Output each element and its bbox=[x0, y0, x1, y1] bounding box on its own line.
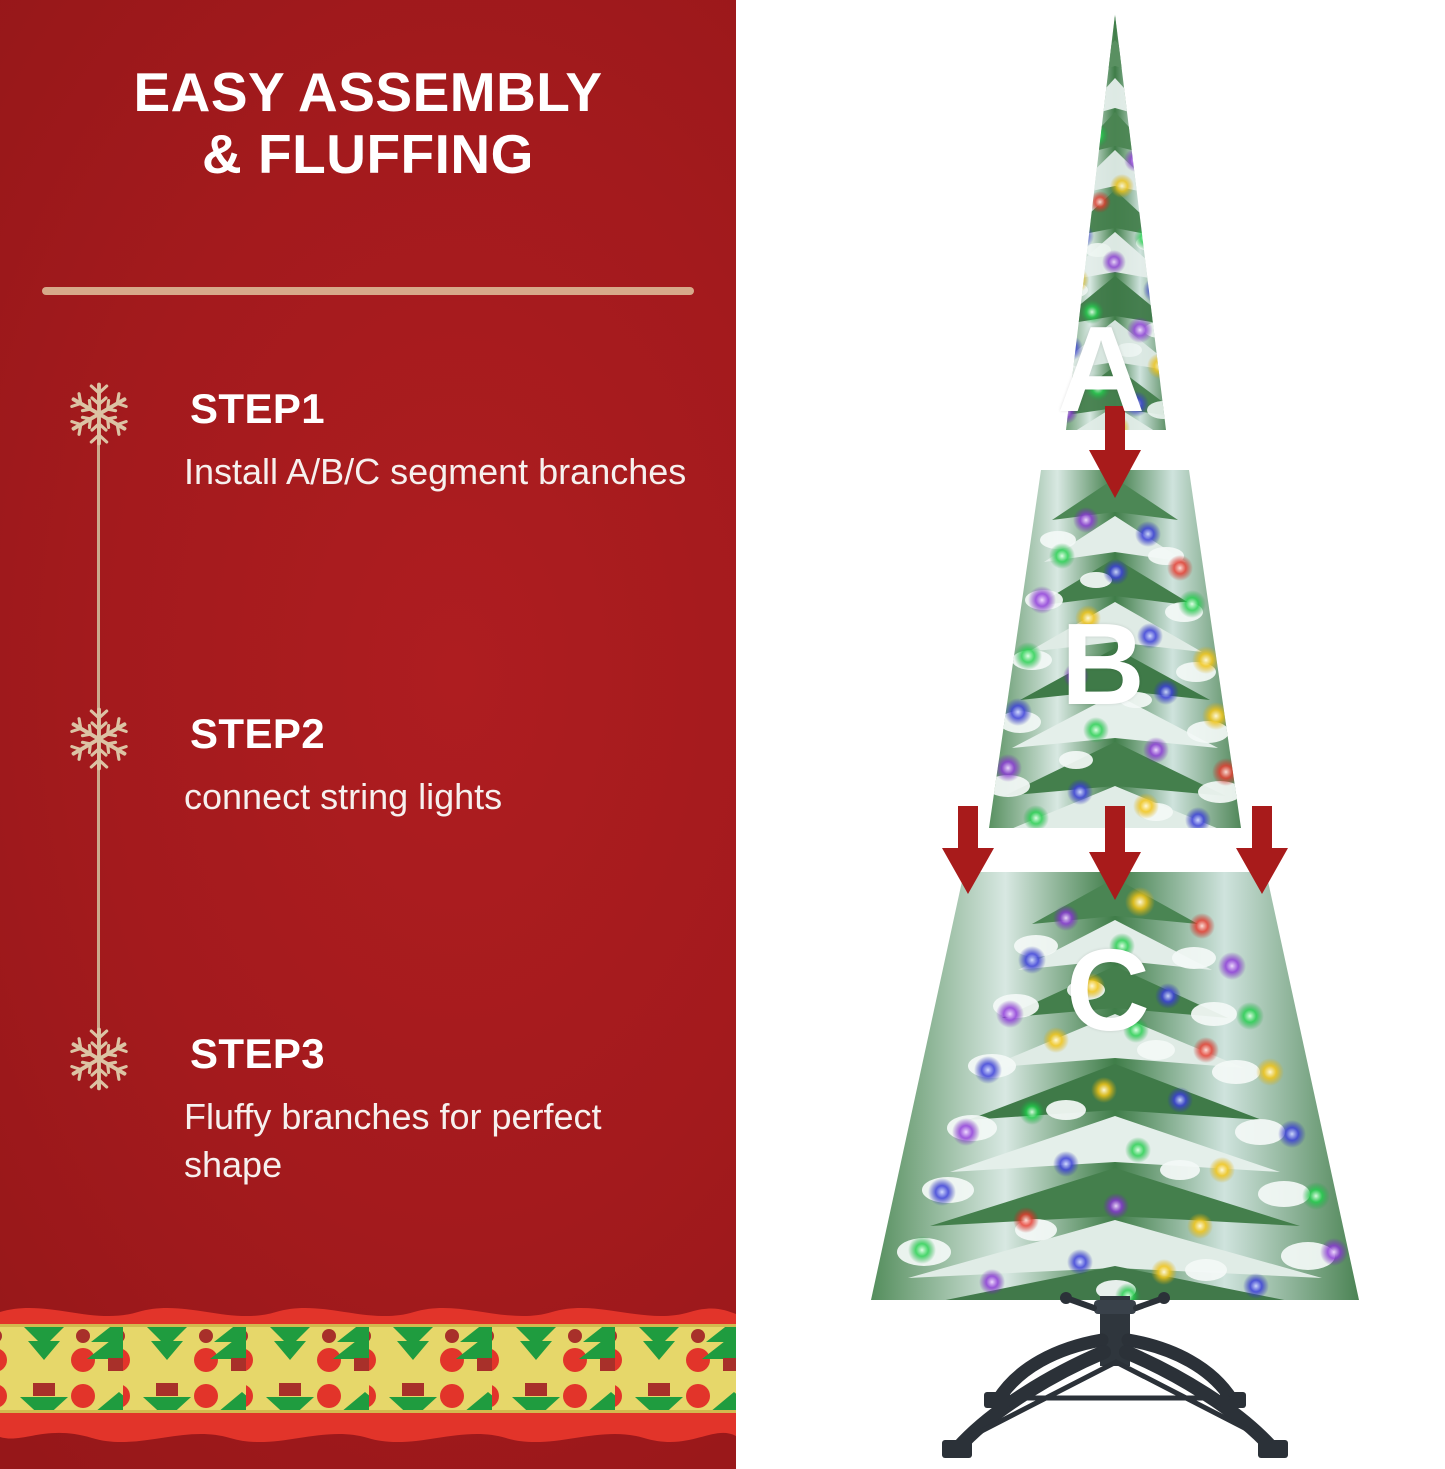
segment-label-c: C bbox=[1066, 932, 1150, 1048]
page-title: EASY ASSEMBLY & FLUFFING bbox=[0, 62, 736, 185]
christmas-tree-illustration bbox=[736, 0, 1445, 1469]
step-title: STEP2 bbox=[190, 710, 325, 758]
title-divider bbox=[42, 287, 694, 295]
step-description: Fluffy branches for perfect shape bbox=[184, 1093, 704, 1188]
headline-line-2: & FLUFFING bbox=[0, 124, 736, 186]
infographic-canvas: EASY ASSEMBLY & FLUFFING bbox=[0, 0, 1445, 1469]
christmas-border-decoration bbox=[0, 1294, 736, 1469]
step-title: STEP1 bbox=[190, 385, 325, 433]
product-image-panel: A B C bbox=[736, 0, 1445, 1469]
snowflake-icon bbox=[64, 704, 134, 774]
left-info-panel: EASY ASSEMBLY & FLUFFING bbox=[0, 0, 736, 1469]
snowflake-icon bbox=[64, 1024, 134, 1094]
snowflake-icon bbox=[64, 379, 134, 449]
segment-label-a: A bbox=[1057, 308, 1145, 430]
segment-label-b: B bbox=[1061, 606, 1145, 722]
step-description: Install A/B/C segment branches bbox=[184, 448, 704, 496]
headline-line-1: EASY ASSEMBLY bbox=[0, 62, 736, 124]
step-title: STEP3 bbox=[190, 1030, 325, 1078]
step-description: connect string lights bbox=[184, 773, 704, 821]
